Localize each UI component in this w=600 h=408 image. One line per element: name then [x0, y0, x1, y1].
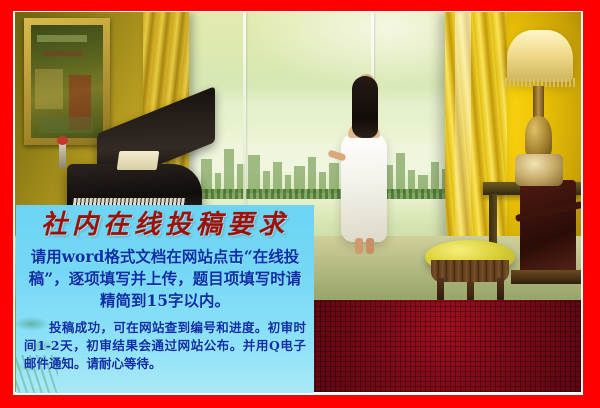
painting-stroke [35, 69, 63, 109]
painting-stroke [43, 51, 83, 56]
lamp-neck [533, 86, 544, 120]
city-skyline [175, 133, 475, 193]
poster-container: 社内在线投稿要求 请用word格式文档在网站点击“在线投稿”，逐项填写并上传，题… [0, 0, 600, 408]
red-patterned-carpet [310, 300, 581, 392]
flower-vase [59, 142, 66, 168]
sheet-music [117, 151, 160, 170]
painting-canvas [31, 25, 103, 138]
wooden-chair-back [520, 180, 576, 276]
painting-stroke [39, 117, 93, 133]
woman-dress [341, 132, 387, 242]
notice-paragraph-primary: 请用word格式文档在网站点击“在线投稿”，逐项填写并上传，题目项填写时请精简到… [16, 246, 314, 312]
painting-stroke [37, 35, 87, 42]
notice-paragraph-secondary: 投稿成功，可在网站查到编号和进度。初审时间1-2天，初审结果会通过网站公布。并用… [16, 319, 314, 374]
ottoman-stool-leg [437, 278, 444, 302]
woman-leg [355, 238, 363, 254]
lamp-base [515, 154, 563, 186]
ottoman-stool-leg [497, 278, 504, 302]
woman-hair [352, 76, 378, 138]
notice-panel: 社内在线投稿要求 请用word格式文档在网站点击“在线投稿”，逐项填写并上传，题… [16, 205, 314, 393]
notice-title: 社内在线投稿要求 [16, 211, 314, 241]
framed-painting [24, 18, 110, 145]
woman-leg [366, 238, 374, 254]
wooden-chair-seat [511, 270, 581, 284]
rose-icon [57, 136, 68, 145]
lamp-shade [507, 30, 573, 82]
